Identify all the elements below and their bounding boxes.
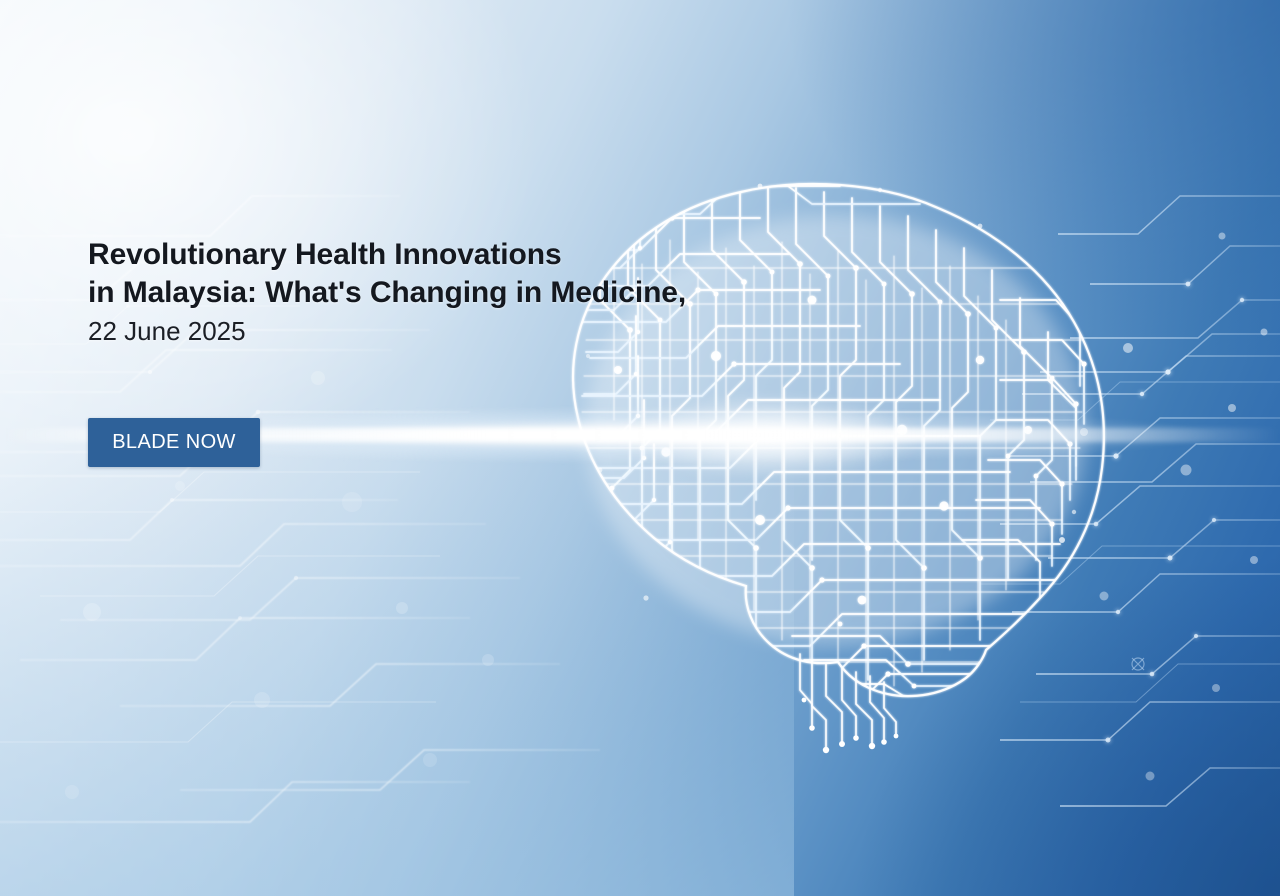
light-beam-hotspot — [560, 378, 980, 496]
headline-line-1: Revolutionary Health Innovations — [88, 236, 708, 274]
cta-container: BLADE NOW — [88, 418, 260, 467]
background-tint-bottom-left — [0, 323, 794, 896]
headline-line-2: in Malaysia: What's Changing in Medicine… — [88, 274, 708, 312]
background-tint-top-right — [691, 0, 1280, 466]
blade-now-button[interactable]: BLADE NOW — [88, 418, 260, 467]
hero-text-block: Revolutionary Health Innovations in Mala… — [88, 236, 708, 348]
page-title: Revolutionary Health Innovations in Mala… — [88, 236, 708, 312]
event-date: 22 June 2025 — [88, 314, 708, 348]
glow-node — [1080, 233, 1268, 781]
background-tint-bottom-right — [742, 466, 1280, 896]
hero-banner: Revolutionary Health Innovations in Mala… — [0, 0, 1280, 896]
